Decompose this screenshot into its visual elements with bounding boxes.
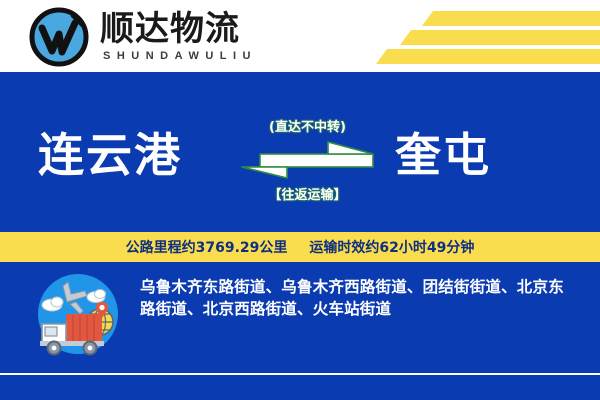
brand-text: 顺达物流 SHUNDAWULIU [100, 12, 257, 63]
stripe-3 [376, 49, 600, 64]
bidirectional-arrow-icon [240, 140, 375, 180]
circle-wave-logo-icon [28, 6, 90, 68]
route-info-bar: 公路里程约3769.29公里 运输时效约62小时49分钟 [0, 232, 600, 262]
route-note-direct: (直达不中转) [240, 116, 375, 135]
duration-text: 运输时效约62小时49分钟 [309, 237, 474, 257]
brand-name-cn: 顺达物流 [100, 12, 257, 48]
coverage-row: 乌鲁木齐东路街道、乌鲁木齐西路街道、团结街街道、北京东路街道、北京西路街道、火车… [0, 268, 600, 368]
route-arrow-group: (直达不中转) 【往返运输】 [240, 110, 375, 220]
destination-city: 奎屯 [395, 132, 491, 178]
stripe-2 [400, 30, 600, 45]
stripe-1 [422, 11, 600, 26]
header-stripes [340, 0, 600, 72]
brand-name-en: SHUNDAWULIU [103, 50, 257, 62]
logistics-route-banner: 顺达物流 SHUNDAWULIU 连云港 (直达不中转) [0, 0, 600, 400]
bottom-divider [0, 373, 600, 375]
banner-header: 顺达物流 SHUNDAWULIU [0, 0, 600, 72]
origin-city: 连云港 [38, 132, 182, 178]
distance-text: 公路里程约3769.29公里 [126, 237, 288, 257]
coverage-streets-text: 乌鲁木齐东路街道、乌鲁木齐西路街道、团结街街道、北京东路街道、北京西路街道、火车… [140, 276, 572, 321]
brand-logo: 顺达物流 SHUNDAWULIU [28, 6, 257, 68]
truck-globe-airplane-icon [30, 272, 126, 356]
route-note-roundtrip: 【往返运输】 [240, 184, 375, 203]
route-row: 连云港 (直达不中转) 【往返运输】 奎屯 [0, 110, 600, 220]
